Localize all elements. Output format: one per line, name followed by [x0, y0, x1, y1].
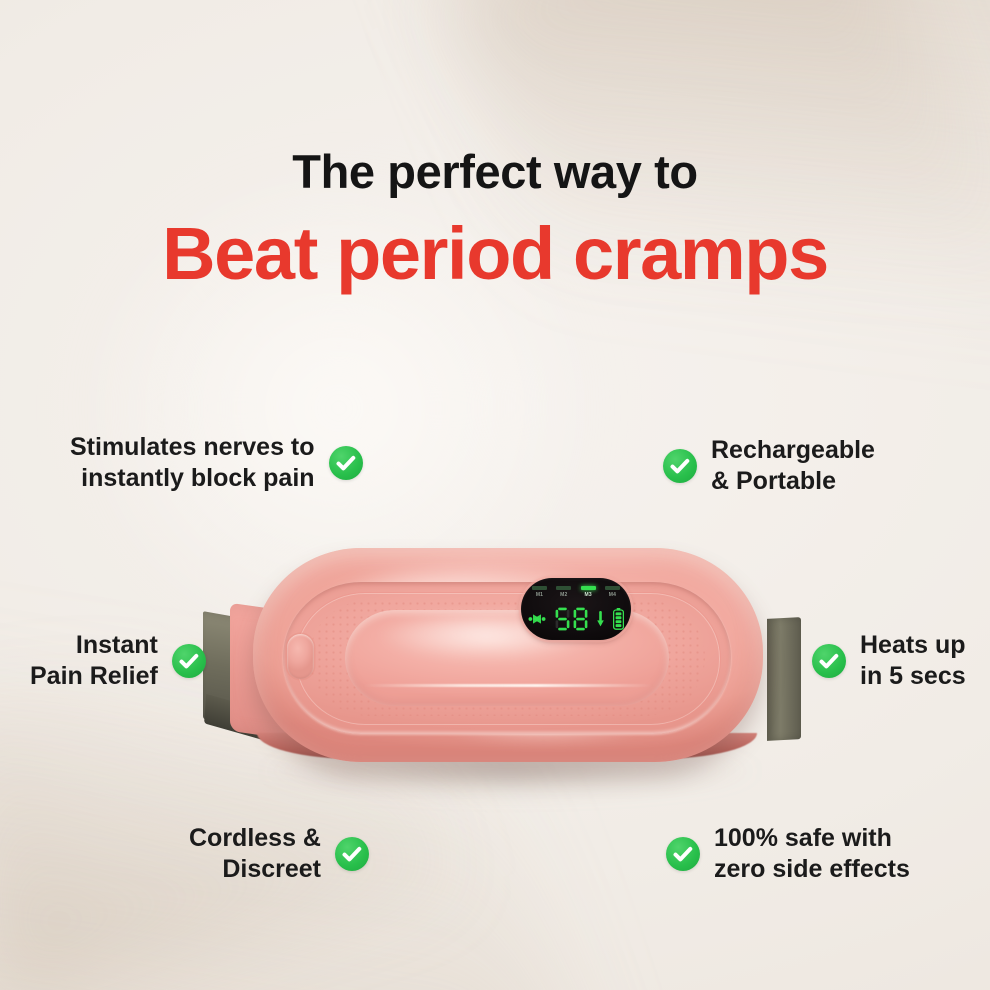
feature-line-2: in 5 secs [860, 661, 966, 692]
led-mode-bar [581, 586, 596, 590]
feature-line-2: Discreet [189, 854, 321, 885]
feature-line-1: Rechargeable [711, 435, 875, 466]
check-circle-icon [663, 449, 697, 483]
led-main-row [528, 604, 624, 634]
arrow-down-icon [597, 611, 604, 627]
feature-line-2: & Portable [711, 466, 875, 497]
feature-line-1: Instant [30, 630, 158, 661]
feature-label: Rechargeable & Portable [711, 435, 875, 497]
belt-body: M1 M2 M3 M4 [253, 548, 763, 762]
feature-label: Instant Pain Relief [30, 630, 158, 692]
feature-line-1: 100% safe with [714, 823, 910, 854]
led-digit-2 [573, 607, 588, 631]
check-circle-icon [329, 446, 363, 480]
led-mode-bar [605, 586, 620, 590]
feature-line-1: Heats up [860, 630, 966, 661]
product-infographic: The perfect way to Beat period cramps St… [0, 0, 990, 990]
feature-rechargeable: Rechargeable & Portable [663, 435, 875, 497]
headline-line-1: The perfect way to [0, 148, 990, 195]
strap-right [767, 617, 801, 741]
check-circle-icon [666, 837, 700, 871]
feature-label: Stimulates nerves to instantly block pai… [70, 432, 315, 494]
check-circle-icon [335, 837, 369, 871]
feature-line-2: zero side effects [714, 854, 910, 885]
led-mode-label: M3 [584, 592, 591, 598]
led-digit-1 [555, 607, 570, 631]
feature-line-2: instantly block pain [70, 463, 315, 494]
led-display: M1 M2 M3 M4 [521, 578, 631, 640]
feature-label: 100% safe with zero side effects [714, 823, 910, 885]
feature-label: Cordless & Discreet [189, 823, 321, 885]
feature-label: Heats up in 5 secs [860, 630, 966, 692]
led-mode-label: M1 [536, 592, 543, 598]
belt-seam-highlight [363, 684, 653, 687]
led-mode-label: M2 [560, 592, 567, 598]
headline-line-2: Beat period cramps [0, 217, 990, 291]
feature-instant-pain-relief: Instant Pain Relief [30, 630, 206, 692]
led-mode-bar [532, 586, 547, 590]
feature-line-2: Pain Relief [30, 661, 158, 692]
headline-block: The perfect way to Beat period cramps [0, 148, 990, 291]
power-button[interactable] [287, 634, 314, 679]
feature-100-percent-safe: 100% safe with zero side effects [666, 823, 910, 885]
feature-line-1: Stimulates nerves to [70, 432, 315, 463]
vibration-icon [528, 611, 546, 627]
feature-stimulates-nerves: Stimulates nerves to instantly block pai… [70, 432, 363, 494]
led-mode-m3: M3 [579, 586, 598, 598]
led-mode-m1: M1 [530, 586, 549, 598]
led-mode-row: M1 M2 M3 M4 [530, 586, 622, 598]
led-digits [555, 607, 588, 631]
led-mode-label: M4 [609, 592, 616, 598]
led-mode-bar [556, 586, 571, 590]
feature-line-1: Cordless & [189, 823, 321, 854]
led-mode-m2: M2 [554, 586, 573, 598]
product-image-heating-belt: M1 M2 M3 M4 [195, 520, 810, 790]
feature-heats-up: Heats up in 5 secs [812, 630, 966, 692]
led-mode-m4: M4 [603, 586, 622, 598]
feature-cordless-discreet: Cordless & Discreet [189, 823, 369, 885]
check-circle-icon [172, 644, 206, 678]
battery-icon [613, 608, 624, 630]
check-circle-icon [812, 644, 846, 678]
